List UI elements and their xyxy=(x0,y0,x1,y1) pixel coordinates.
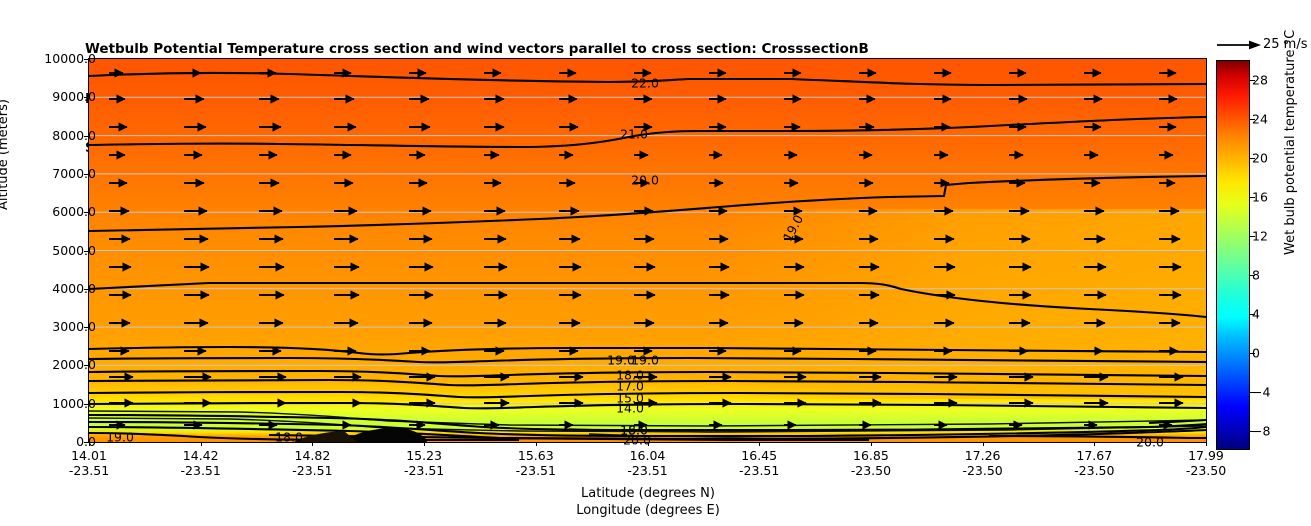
x-axis-tick-mark xyxy=(89,442,90,446)
x-axis-tick-label: 16.45-23.51 xyxy=(739,448,779,478)
contour-label: 14.0 xyxy=(616,401,644,416)
x-axis-tick-longitude: -23.51 xyxy=(69,463,109,478)
colorbar-label: Wet bulb potential temperature °C xyxy=(1283,30,1298,255)
y-axis-tick-mark xyxy=(84,212,88,213)
plot-svg xyxy=(89,59,1206,442)
x-axis-tick-label: 14.82-23.51 xyxy=(292,448,332,478)
x-axis-tick-mark xyxy=(201,442,202,446)
contour-label: 19.0 xyxy=(631,353,659,368)
x-axis-tick-mark xyxy=(871,442,872,446)
x-axis-tick-label: 15.63-23.51 xyxy=(516,448,556,478)
y-axis-tick-mark xyxy=(84,136,88,137)
y-axis-tick-label: 3000.0 xyxy=(52,319,96,334)
x-axis-tick-latitude: 16.45 xyxy=(739,448,779,463)
x-axis-tick-latitude: 16.85 xyxy=(851,448,891,463)
contour-label: 20.0 xyxy=(1136,435,1164,450)
x-axis-tick-latitude: 15.23 xyxy=(404,448,444,463)
colorbar-tick-label: 20 xyxy=(1252,150,1268,165)
y-axis-tick-label: 1000.0 xyxy=(52,396,96,411)
x-axis-tick-label: 15.23-23.51 xyxy=(404,448,444,478)
x-axis-tick-label: 14.01-23.51 xyxy=(69,448,109,478)
x-axis-tick-latitude: 17.99 xyxy=(1186,448,1226,463)
title-line-1: Wetbulb Potential Temperature cross sect… xyxy=(85,41,1085,58)
y-axis-tick-mark xyxy=(84,251,88,252)
quiver-key-arrow-icon xyxy=(1216,36,1262,54)
y-axis-tick-mark xyxy=(84,174,88,175)
x-axis-tick-latitude: 16.04 xyxy=(627,448,667,463)
colorbar-tick-label: 16 xyxy=(1252,189,1268,204)
x-axis-tick-longitude: -23.51 xyxy=(292,463,332,478)
x-axis-tick-latitude: 17.26 xyxy=(962,448,1002,463)
y-axis-tick-mark xyxy=(84,59,88,60)
y-axis-tick-mark xyxy=(84,327,88,328)
y-axis-tick-label: 6000.0 xyxy=(52,204,96,219)
y-axis-tick-label: 10000.0 xyxy=(44,51,96,66)
colorbar-tick-label: 8 xyxy=(1252,267,1260,282)
x-axis-tick-longitude: -23.51 xyxy=(181,463,221,478)
x-axis-label-latitude: Latitude (degrees N) xyxy=(581,486,715,501)
x-axis-tick-latitude: 17.67 xyxy=(1074,448,1114,463)
x-axis-tick-mark xyxy=(536,442,537,446)
x-axis-tick-longitude: -23.50 xyxy=(1186,463,1226,478)
contour-label: 21.0 xyxy=(620,127,648,142)
x-axis-tick-latitude: 14.01 xyxy=(69,448,109,463)
y-axis-tick-mark xyxy=(84,442,88,443)
colorbar[interactable] xyxy=(1216,60,1250,450)
colorbar-tick-label: 4 xyxy=(1252,306,1260,321)
x-axis-tick-longitude: -23.50 xyxy=(962,463,1002,478)
x-axis-tick-longitude: -23.51 xyxy=(516,463,556,478)
x-axis-tick-latitude: 14.82 xyxy=(292,448,332,463)
x-axis-tick-mark xyxy=(312,442,313,446)
y-axis-tick-label: 2000.0 xyxy=(52,357,96,372)
x-axis-tick-longitude: -23.50 xyxy=(851,463,891,478)
contour-label: 18.0 xyxy=(275,430,303,445)
y-axis-tick-label: 7000.0 xyxy=(52,166,96,181)
x-axis-tick-label: 14.42-23.51 xyxy=(181,448,221,478)
x-axis-tick-latitude: 15.63 xyxy=(516,448,556,463)
x-axis-tick-mark xyxy=(424,442,425,446)
x-axis-tick-longitude: -23.51 xyxy=(404,463,444,478)
figure-canvas: Wetbulb Potential Temperature cross sect… xyxy=(0,0,1311,526)
x-axis-label-longitude: Longitude (degrees E) xyxy=(576,503,720,518)
x-axis-tick-label: 16.04-23.51 xyxy=(627,448,667,478)
y-axis-tick-mark xyxy=(84,365,88,366)
y-axis-tick-mark xyxy=(84,97,88,98)
x-axis-tick-label: 17.26-23.50 xyxy=(962,448,1002,478)
y-axis-tick-mark xyxy=(84,404,88,405)
x-axis-tick-longitude: -23.51 xyxy=(627,463,667,478)
x-axis-tick-mark xyxy=(1206,442,1207,446)
contour-label: 22.0 xyxy=(631,76,659,91)
colorbar-tick-label: 12 xyxy=(1252,228,1268,243)
x-axis-tick-mark xyxy=(759,442,760,446)
y-axis-tick-label: 5000.0 xyxy=(52,243,96,258)
contour-label: 19.0 xyxy=(106,430,134,445)
colorbar-tick-label: 0 xyxy=(1252,345,1260,360)
colorbar-tick-label: 24 xyxy=(1252,111,1268,126)
x-axis-tick-mark xyxy=(1094,442,1095,446)
cross-section-plot[interactable] xyxy=(88,58,1207,443)
x-axis-tick-label: 17.99-23.50 xyxy=(1186,448,1226,478)
x-axis-tick-latitude: 14.42 xyxy=(181,448,221,463)
contour-label: 20.0 xyxy=(631,173,659,188)
x-axis-tick-label: 17.67-23.50 xyxy=(1074,448,1114,478)
x-axis-tick-label: 16.85-23.50 xyxy=(851,448,891,478)
x-axis-tick-mark xyxy=(648,442,649,446)
colorbar-tick-label: −4 xyxy=(1252,384,1270,399)
x-axis-tick-longitude: -23.51 xyxy=(739,463,779,478)
y-axis-tick-mark xyxy=(84,289,88,290)
x-axis-tick-longitude: -23.50 xyxy=(1074,463,1114,478)
y-axis-tick-label: 9000.0 xyxy=(52,89,96,104)
x-axis-tick-mark xyxy=(983,442,984,446)
colorbar-tick-label: 28 xyxy=(1252,72,1268,87)
colorbar-tick-label: −8 xyxy=(1252,423,1270,438)
y-axis-label: Altitude (meters) xyxy=(0,99,11,210)
y-axis-tick-label: 8000.0 xyxy=(52,128,96,143)
y-axis-tick-label: 4000.0 xyxy=(52,281,96,296)
